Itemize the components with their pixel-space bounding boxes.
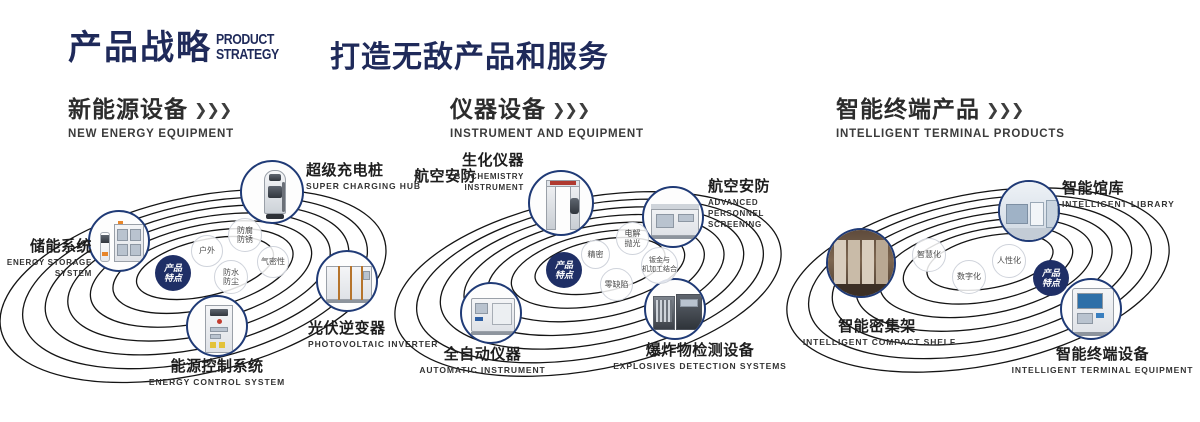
bubble-line-1: 产品 [1042,268,1060,278]
label-cn: 全自动仪器 [390,346,575,363]
bubble-line-2: 防锈 [237,235,253,244]
product-label-energy-control: 能源控制系统 ENERGY CONTROL SYSTEM [92,358,342,387]
label-cn: 智能终端设备 [1005,346,1200,363]
bubble-line-2: 特点 [1042,278,1060,288]
page-header: 产品战略 PRODUCT STRATEGY 打造无敌产品和服务 [0,0,1200,88]
product-node-energy-storage[interactable] [88,210,150,272]
energy-control-photo [188,297,246,355]
bubble-line-2: 特点 [164,273,182,283]
product-label-automatic-instrument: 全自动仪器 AUTOMATIC INSTRUMENT [390,346,575,375]
feature-bubble-outdoor[interactable]: 户外 [191,235,223,267]
page-title-en-line2: STRATEGY [216,47,290,62]
bubble-line-2: 防尘 [223,277,239,286]
section-title-cn-text: 智能终端产品 [836,96,980,122]
label-en: EXPLOSIVES DETECTION SYSTEMS [585,361,815,371]
chevron-right-icon: ❯❯❯ [552,102,589,119]
product-label-explosives-detection: 爆炸物检测设备 EXPLOSIVES DETECTION SYSTEMS [585,342,815,371]
label-en: ADVANCED PERSONNEL SCREENING [708,197,800,230]
bubble-line-2: 特点 [555,270,573,280]
product-label-biochemistry: 生化仪器 BIOCHEMISTRY INSTRUMENT [416,152,524,193]
energy-storage-photo [90,212,148,270]
product-label-terminal-equipment: 智能终端设备 INTELLIGENT TERMINAL EQUIPMENT [1005,346,1200,375]
feature-bubble-anticorrosion[interactable]: 防腐 防锈 [228,218,262,252]
feature-bubble-precision[interactable]: 精密 [581,240,610,269]
feature-bubble-electropolishing[interactable]: 电解 抛光 [616,222,649,255]
section-title-cn-text: 新能源设备 [68,96,188,122]
cluster-instrument: 航空安防 生化仪器 BIOCHEMISTRY INSTRUMENT 航空安防 A… [400,150,820,422]
label-en: INTELLIGENT TERMINAL EQUIPMENT [1005,365,1200,375]
bubble-line-1: 防水 [223,268,239,277]
terminal-equipment-photo [1062,280,1120,338]
bubble-line-1: 产品 [164,263,182,273]
bubble-line-2: 抛光 [625,239,641,248]
bubble-line-1: 产品 [555,260,573,270]
product-node-charging-hub[interactable] [240,160,304,224]
label-cn: 智能馆库 [1062,180,1175,197]
page-title-en: PRODUCT STRATEGY [216,32,290,62]
section-title-cn: 新能源设备❯❯❯ [68,96,234,124]
bubble-line-1: 户外 [199,246,215,255]
page-title-en-line1: PRODUCT [216,32,290,47]
section-title-cn: 智能终端产品❯❯❯ [836,96,1065,124]
product-node-explosives-detection[interactable] [644,278,706,340]
section-title-en: NEW ENERGY EQUIPMENT [68,128,234,140]
section-title-en: INSTRUMENT AND EQUIPMENT [450,128,644,140]
page-title-cn: 产品战略 [68,28,212,68]
label-en: INTELLIGENT LIBRARY [1062,199,1175,209]
feature-bubble-digital[interactable]: 数字化 [952,260,986,294]
cluster-intelligent: 智能馆库 INTELLIGENT LIBRARY 智能密集架 INTELLIGE… [790,150,1200,422]
label-en: BIOCHEMISTRY INSTRUMENT [416,171,524,193]
feature-bubble-waterproof[interactable]: 防水 防尘 [214,260,248,294]
product-node-automatic-instrument[interactable] [460,282,522,344]
label-cn: 能源控制系统 [92,358,342,375]
pv-inverter-photo [318,252,376,310]
product-node-intelligent-library[interactable] [998,180,1060,242]
label-en: AUTOMATIC INSTRUMENT [390,365,575,375]
label-cn: 生化仪器 [416,152,524,169]
product-node-terminal-equipment[interactable] [1060,278,1122,340]
section-title-instrument: 仪器设备❯❯❯ INSTRUMENT AND EQUIPMENT [450,96,644,140]
bubble-line-1: 零缺陷 [605,280,629,289]
feature-bubble-core[interactable]: 产品 特点 [1033,260,1069,296]
bubble-line-1: 钣金与 [649,257,670,264]
product-node-energy-control[interactable] [186,295,248,357]
chevron-right-icon: ❯❯❯ [194,102,231,119]
feature-bubble-intelligent[interactable]: 智慧化 [912,238,946,272]
product-node-biochemistry[interactable] [528,170,594,236]
charging-hub-photo [242,162,302,222]
bubble-line-1: 精密 [588,250,604,259]
bubble-line-1: 电解 [625,229,641,238]
bubble-line-1: 气密性 [261,257,285,266]
feature-bubble-humanized[interactable]: 人性化 [992,244,1026,278]
compact-shelf-photo [828,230,894,296]
automatic-instrument-photo [462,284,520,342]
label-cn: 储能系统 [0,238,92,255]
bubble-line-2: 机加工结合 [642,266,677,273]
feature-bubble-zero-defect[interactable]: 零缺陷 [600,268,633,301]
section-title-cn-text: 仪器设备 [450,96,546,122]
chevron-right-icon: ❯❯❯ [986,102,1023,119]
feature-bubble-core[interactable]: 产品 特点 [546,252,582,288]
cluster-new-energy: 储能系统 ENERGY STORAGE SYSTEM 超级充电桩 SUPER C… [0,150,420,422]
feature-bubble-core[interactable]: 产品 特点 [155,255,191,291]
bubble-line-1: 数字化 [957,272,981,281]
feature-bubble-airtight[interactable]: 气密性 [257,246,289,278]
section-title-en: INTELLIGENT TERMINAL PRODUCTS [836,128,1065,140]
product-label-intelligent-library: 智能馆库 INTELLIGENT LIBRARY [1062,180,1175,209]
label-cn: 爆炸物检测设备 [585,342,815,359]
product-label-energy-storage: 储能系统 ENERGY STORAGE SYSTEM [0,238,92,279]
bubble-line-1: 智慧化 [917,250,941,259]
intelligent-library-photo [1000,182,1058,240]
product-node-compact-shelf[interactable] [826,228,896,298]
section-title-cn: 仪器设备❯❯❯ [450,96,644,124]
explosives-detection-photo [646,280,704,338]
label-cn: 航空安防 [708,178,800,195]
personnel-screening-photo [644,188,702,246]
bubble-line-1: 防腐 [237,226,253,235]
product-label-compact-shelf: 智能密集架 INTELLIGENT COMPACT SHELF [784,318,970,348]
page-slogan: 打造无敌产品和服务 [330,32,609,76]
label-en: INTELLIGENT COMPACT SHELF [784,337,970,348]
product-node-pv-inverter[interactable] [316,250,378,312]
product-node-personnel-screening[interactable] [642,186,704,248]
section-title-intelligent: 智能终端产品❯❯❯ INTELLIGENT TERMINAL PRODUCTS [836,96,1065,140]
biochemistry-photo [530,172,592,234]
label-en: ENERGY CONTROL SYSTEM [92,377,342,387]
product-label-personnel-screening: 航空安防 ADVANCED PERSONNEL SCREENING [708,178,800,230]
label-cn: 智能密集架 [784,318,970,335]
label-en: ENERGY STORAGE SYSTEM [0,257,92,279]
feature-bubble-sheetmetal[interactable]: 钣金与 机加工结合 [641,247,678,284]
section-title-new-energy: 新能源设备❯❯❯ NEW ENERGY EQUIPMENT [68,96,234,140]
bubble-line-1: 人性化 [997,256,1021,265]
